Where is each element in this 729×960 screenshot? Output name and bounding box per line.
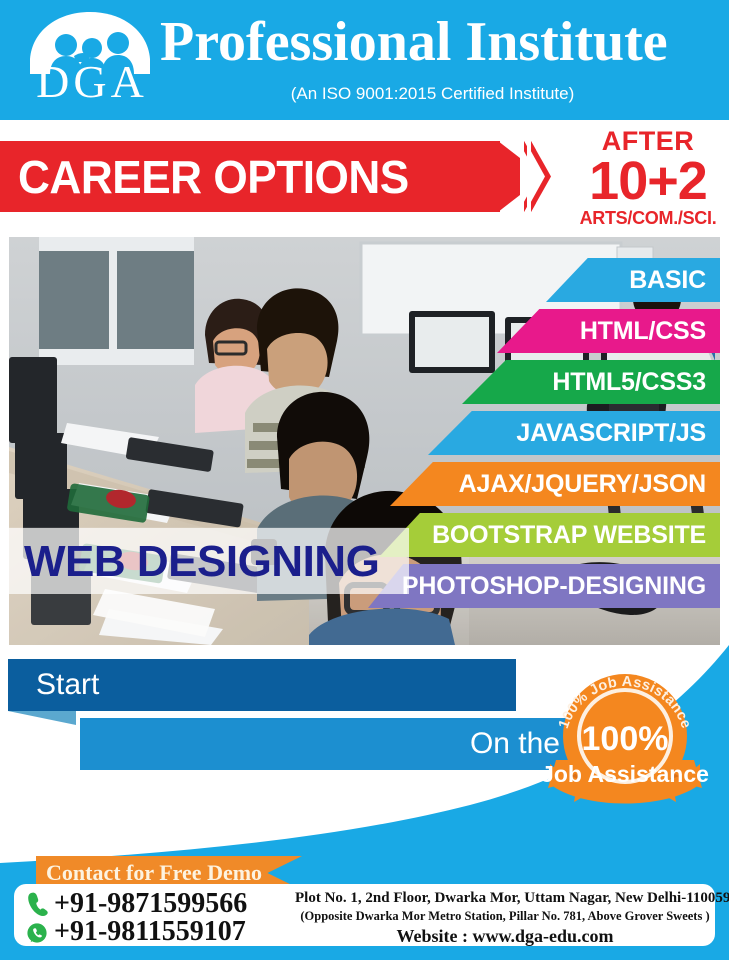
address-block: Plot No. 1, 2nd Floor, Dwarka Mor, Uttam…: [295, 889, 715, 948]
course-tag-html5-css3[interactable]: HTML5/CSS3: [462, 360, 720, 404]
course-tag-label: HTML5/CSS3: [552, 368, 706, 397]
institute-name: Professional Institute: [160, 14, 720, 70]
career-options-title: CAREER OPTIONS: [18, 146, 479, 208]
header-bar: DGA Professional Institute (An ISO 9001:…: [0, 0, 729, 120]
course-tag-label: BASIC: [629, 266, 706, 295]
phone-whatsapp-number: +91-9811559107: [54, 916, 246, 948]
course-tag-label: HTML/CSS: [580, 317, 706, 346]
phone-whatsapp-row[interactable]: +91-9811559107: [26, 916, 246, 948]
course-tag-bootstrap-website[interactable]: BOOTSTRAP WEBSITE: [379, 513, 720, 557]
after-qualification-block: AFTER 10+2 ARTS/COM./SCI.: [568, 128, 728, 229]
after-number: 10+2: [568, 156, 728, 207]
whatsapp-icon: [26, 919, 48, 945]
course-tag-label: AJAX/JQUERY/JSON: [459, 470, 706, 499]
course-tag-label: JAVASCRIPT/JS: [516, 419, 706, 448]
course-tag-html-css[interactable]: HTML/CSS: [497, 309, 720, 353]
website-line: Website : www.dga-edu.com: [295, 925, 715, 948]
address-line-1: Plot No. 1, 2nd Floor, Dwarka Mor, Uttam…: [295, 889, 715, 908]
iso-certification-text: (An ISO 9001:2015 Certified Institute): [160, 84, 705, 104]
course-tag-basic[interactable]: BASIC: [546, 258, 720, 302]
logo: DGA: [22, 12, 162, 112]
poster-root: DGA Professional Institute (An ISO 9001:…: [0, 0, 729, 960]
address-line-2: (Opposite Dwarka Mor Metro Station, Pill…: [295, 908, 715, 924]
badge-ribbon-text: Job Assistance: [541, 761, 709, 787]
course-tag-label: BOOTSTRAP WEBSITE: [432, 521, 706, 550]
phone-icon: [26, 891, 48, 917]
job-assistance-badge: 100% Job Assistance 100% Job Assistance: [540, 660, 710, 810]
course-tag-javascript[interactable]: JAVASCRIPT/JS: [428, 411, 720, 455]
course-tag-ajax-jquery-json[interactable]: AJAX/JQUERY/JSON: [390, 462, 720, 506]
badge-center-text: 100%: [582, 720, 669, 758]
after-streams: ARTS/COM./SCI.: [568, 209, 728, 229]
logo-text: DGA: [22, 59, 162, 105]
course-tag-label: PHOTOSHOP-DESIGNING: [402, 572, 706, 601]
web-designing-title: WEB DESIGNING: [24, 534, 424, 590]
